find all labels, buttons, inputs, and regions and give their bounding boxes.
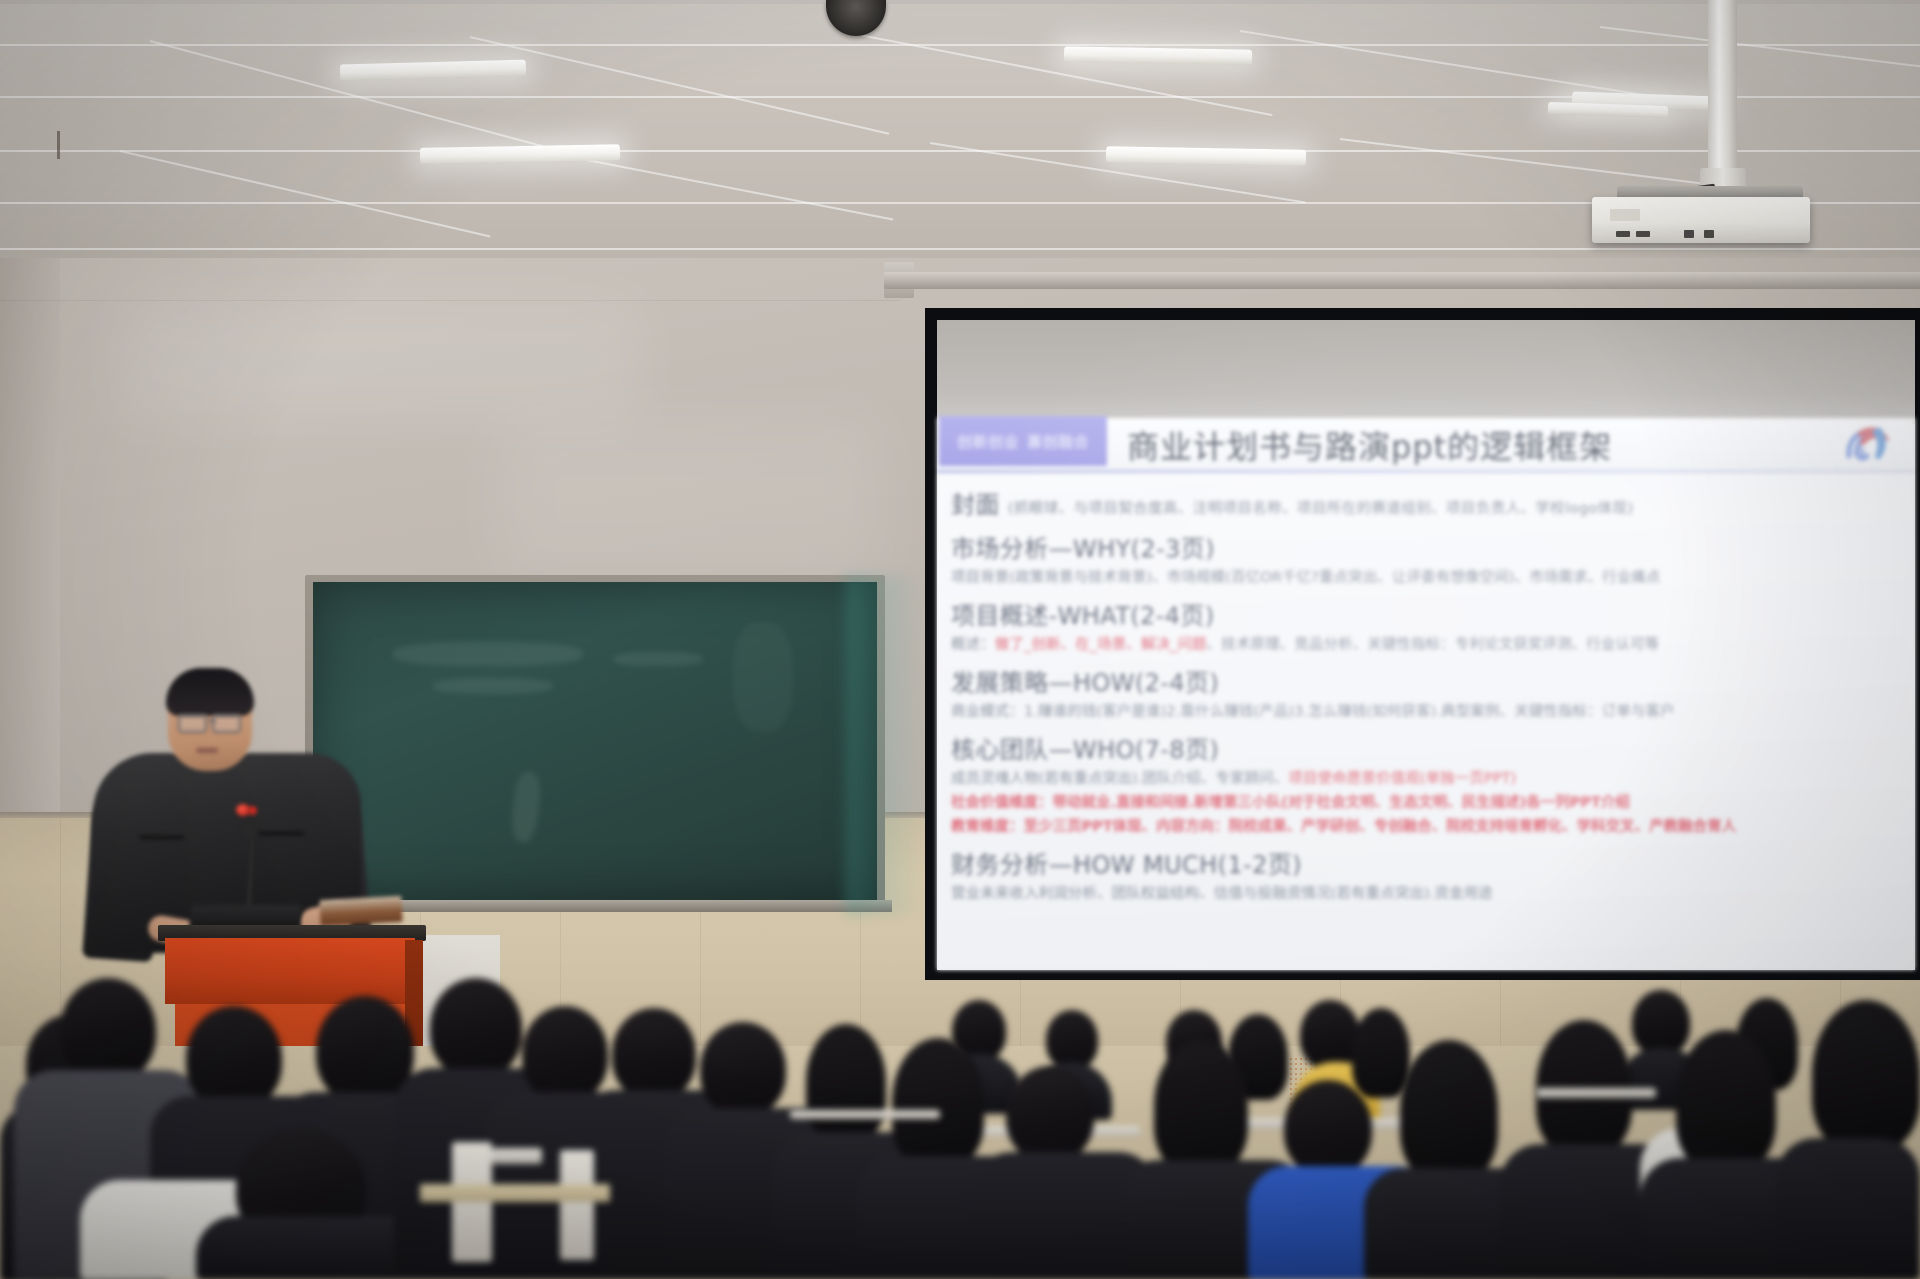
sub-prefix: 概述： (951, 637, 995, 653)
speaker-mouth (196, 748, 218, 753)
sub-prefix: 成员灵魂人物(若有重点突出).团队介绍、专家顾问、 (951, 771, 1288, 787)
wall-scuff (57, 131, 60, 159)
slide-red-note: 社会价值维度：带动就业.直接和间接.新增第三小队(对于社会文明、生态文明、民生描… (951, 791, 1901, 812)
slide-section-sub: 项目背景(政策背景与技术背景)、市场规模(百亿OR千亿?重点突出、让评委有想像空… (951, 566, 1901, 587)
slide-badge: 创新创业 寡创融合 (939, 416, 1107, 466)
projector-mount-pole (1708, 0, 1737, 182)
slide-section-heading: 项目概述-WHAT(2-4页) (951, 596, 1901, 631)
projector-light-spill (845, 575, 925, 915)
wall-left-panel (0, 258, 60, 818)
slide-title: 商业计划书与路演ppt的逻辑框架 (1127, 422, 1612, 468)
microphone-indicator-icon (236, 804, 250, 816)
slide-section-heading: 发展策略—HOW(2-4页) (951, 663, 1901, 698)
speaker-jacket-pocket (140, 836, 184, 839)
screen-roller-case (884, 272, 1920, 289)
speaker-jacket-pocket (258, 832, 304, 835)
sub-rest: 、技术原理、竞品分析、关键性指标：专利论文获奖评测、行业认可等 (1207, 637, 1660, 653)
slide-section-sub: 成员灵魂人物(若有重点突出).团队介绍、专家顾问、项目使命愿景价值观(单独一页P… (951, 767, 1901, 788)
projector (1592, 197, 1810, 243)
school-swirl-logo-icon (1839, 422, 1893, 466)
lecture-hall-scene: 创新创业 寡创融合 商业计划书与路演ppt的逻辑框架 封面 (抓眼球、与项目契合… (0, 0, 1920, 1279)
speaker-glasses-lens (178, 714, 207, 733)
slide-section-note: (抓眼球、与项目契合度高、注明项目名称、项目所在的赛道组别、项目负责人、学校lo… (1008, 501, 1634, 517)
slide-section-heading: 封面 (抓眼球、与项目契合度高、注明项目名称、项目所在的赛道组别、项目负责人、学… (951, 485, 1901, 520)
podium (165, 938, 415, 1004)
slide-section-sub: 营业未来收入利润分析、团队权益结构、估值与投融资情况(若有重点突出).资金用途 (951, 882, 1901, 903)
screen-unlit-area (937, 320, 1915, 424)
slide-section-title: 封面 (951, 491, 1000, 519)
book-on-podium (319, 896, 402, 926)
speaker-eyebrow (212, 707, 232, 710)
speaker-glasses-lens (212, 714, 241, 733)
sub-red-emphasis: 项目使命愿景价值观(单独一页PPT) (1288, 771, 1516, 787)
slide-section-heading: 市场分析—WHY(2-3页) (951, 529, 1901, 564)
slide-section-sub: 概述：做了_创新、在_场景、解决_问题、技术原理、竞品分析、关键性指标：专利论文… (951, 633, 1901, 654)
speaker-eyebrow (180, 707, 200, 710)
slide-section-heading: 核心团队—WHO(7-8页) (951, 730, 1901, 765)
presentation-slide: 创新创业 寡创融合 商业计划书与路演ppt的逻辑框架 封面 (抓眼球、与项目契合… (937, 418, 1915, 970)
slide-red-note: 教育维度：至少三页PPT体现、内容方向：院校成果、产学研创、专创融合、院校支持培… (951, 815, 1901, 836)
sub-red-emphasis: 做了_创新、在_场景、解决_问题 (995, 637, 1207, 653)
microphone-head (243, 822, 256, 838)
slide-section-sub: 商业模式：1.赚谁的钱(客户是谁)2.靠什么赚钱(产品)3.怎么赚钱(如何获客)… (951, 700, 1901, 721)
slide-badge-text-left: 创新创业 (957, 431, 1019, 452)
slide-body: 封面 (抓眼球、与项目契合度高、注明项目名称、项目所在的赛道组别、项目负责人、学… (937, 476, 1915, 970)
speaker-glasses-bridge (208, 720, 216, 722)
blackboard (313, 582, 877, 900)
slide-title-underline (937, 470, 1915, 473)
slide-badge-text-right: 寡创融合 (1027, 431, 1089, 452)
slide-section-heading: 财务分析—HOW MUCH(1-2页) (951, 845, 1901, 880)
